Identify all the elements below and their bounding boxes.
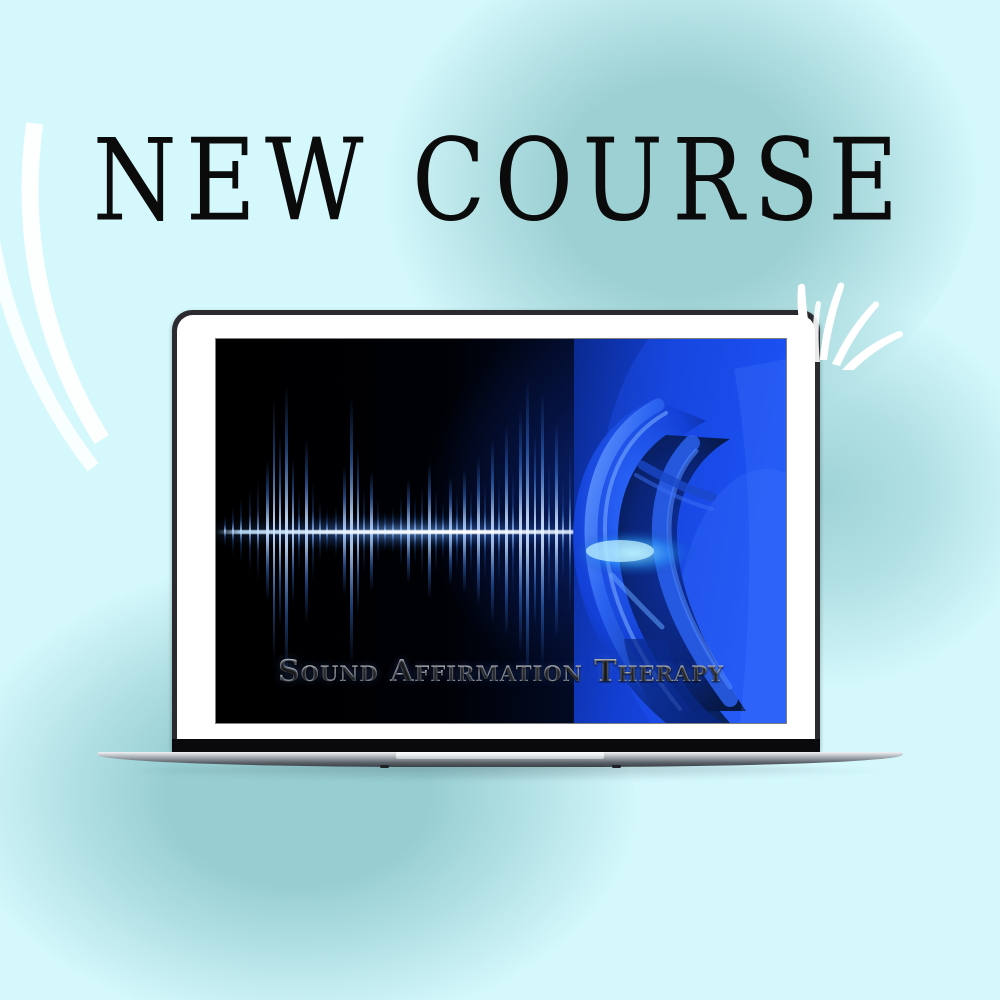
laptop-base-lip [396, 752, 604, 759]
laptop-foot-left [380, 765, 389, 768]
screen-caption: Sound Affirmation Therapy [216, 654, 786, 689]
laptop-mockup: Sound Affirmation Therapy [0, 0, 1000, 1000]
laptop-foot-right [612, 765, 621, 768]
sound-wave-into-ear-artwork: Sound Affirmation Therapy [216, 339, 786, 723]
laptop-screen[interactable]: Sound Affirmation Therapy [216, 339, 786, 723]
poster-canvas: NEW COURSE [0, 0, 1000, 1000]
